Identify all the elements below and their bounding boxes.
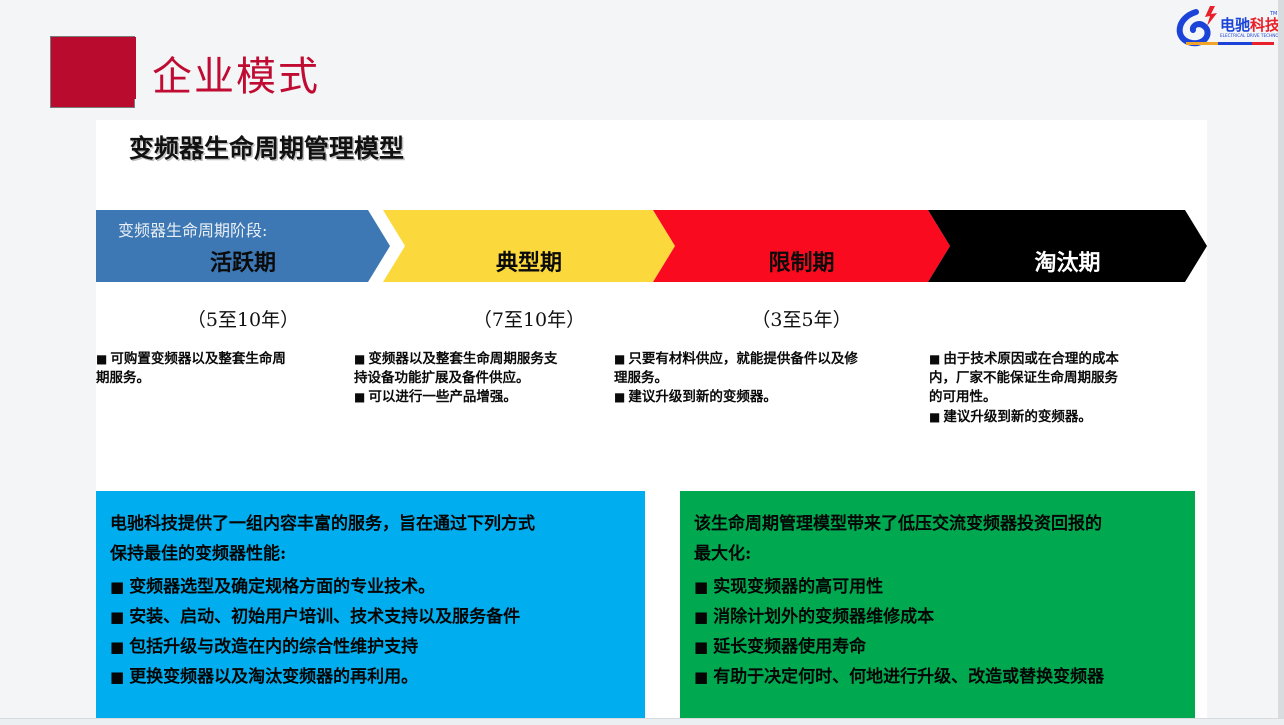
bullet-square-icon: ■ — [694, 608, 708, 626]
phase-detail-columns: ■可购置变频器以及整套生命周期服务。 ■变频器以及整套生命周期服务支持设备功能扩… — [96, 350, 1207, 470]
phase-duration-classic: （7至10年） — [383, 305, 675, 332]
phase-detail-line: 的可用性。 — [929, 388, 1179, 406]
window-right-scrollbar[interactable] — [1278, 0, 1284, 718]
phase-detail-line: 持设备功能扩展及备件供应。 — [354, 369, 604, 387]
services-bullet-list: ■变频器选型及确定规格方面的专业技术。■安装、启动、初始用户培训、技术支持以及服… — [110, 572, 629, 693]
svg-text:ELECTRICAL DRIVE TECHNOLOGY: ELECTRICAL DRIVE TECHNOLOGY — [1220, 33, 1278, 38]
company-logo: 电驰 科技 ELECTRICAL DRIVE TECHNOLOGY TM — [1166, 2, 1278, 50]
phase-column-limited: ■只要有材料供应，就能提供备件以及修理服务。■建议升级到新的变频器。 — [614, 350, 882, 408]
bullet-square-icon: ■ — [929, 410, 940, 424]
phase-detail-line: ■可以进行一些产品增强。 — [354, 388, 604, 406]
box-bullet-item: ■安装、启动、初始用户培训、技术支持以及服务备件 — [110, 602, 629, 632]
benefits-box-green: 该生命周期管理模型带来了低压交流变频器投资回报的 最大化: ■实现变频器的高可用… — [680, 491, 1195, 720]
bullet-square-icon: ■ — [354, 352, 365, 366]
phase-column-classic: ■变频器以及整套生命周期服务支持设备功能扩展及备件供应。■可以进行一些产品增强。 — [354, 350, 604, 408]
phase-column-obsolete: ■由于技术原因或在合理的成本内，厂家不能保证生命周期服务的可用性。■建议升级到新… — [929, 350, 1179, 427]
benefits-bullet-list: ■实现变频器的高可用性■消除计划外的变频器维修成本■延长变频器使用寿命■有助于决… — [694, 572, 1179, 693]
phase-detail-line: 理服务。 — [614, 369, 882, 387]
bullet-square-icon: ■ — [694, 668, 708, 686]
phase-column-active: ■可购置变频器以及整套生命周期服务。 — [96, 350, 344, 388]
card-heading: 变频器生命周期管理模型 — [129, 129, 404, 165]
title-accent-block — [50, 36, 135, 108]
chevron-label: 活跃期 — [210, 245, 276, 282]
chevron-phase-obsolete[interactable]: 淘汰期 — [928, 210, 1207, 282]
title-accent-block-fill — [51, 37, 136, 99]
bullet-square-icon: ■ — [110, 668, 124, 686]
bullet-square-icon: ■ — [694, 638, 708, 656]
bullet-square-icon: ■ — [110, 578, 124, 596]
bullet-square-icon: ■ — [110, 608, 124, 626]
benefits-box-intro: 该生命周期管理模型带来了低压交流变频器投资回报的 最大化: — [694, 509, 1179, 570]
box-bullet-item: ■变频器选型及确定规格方面的专业技术。 — [110, 572, 629, 602]
lifecycle-chevron-strip: 活跃期 典型期 限制期 淘汰期 变频器生命周期阶段: （5至10年） （7至10… — [96, 210, 1207, 282]
bullet-square-icon: ■ — [614, 352, 625, 366]
box-bullet-item: ■实现变频器的高可用性 — [694, 572, 1179, 602]
slide-header: 企业模式 电驰 科技 ELECTRICAL DRIVE TECHNOLOGY T… — [0, 0, 1284, 120]
bullet-square-icon: ■ — [96, 352, 107, 366]
box-bullet-item: ■有助于决定何时、何地进行升级、改造或替换变频器 — [694, 662, 1179, 692]
phase-detail-line: 内，厂家不能保证生命周期服务 — [929, 369, 1179, 387]
bullet-square-icon: ■ — [614, 390, 625, 404]
phase-detail-line: ■变频器以及整套生命周期服务支 — [354, 350, 604, 368]
stage-axis-label: 变频器生命周期阶段: — [118, 217, 267, 241]
services-box-blue: 电驰科技提供了一组内容丰富的服务，旨在通过下列方式 保持最佳的变频器性能: ■变… — [96, 491, 645, 720]
phase-detail-line: ■可购置变频器以及整套生命周 — [96, 350, 344, 368]
phase-duration-limited: （3至5年） — [653, 305, 950, 332]
box-bullet-item: ■包括升级与改造在内的综合性维护支持 — [110, 632, 629, 662]
window-bottom-strip — [0, 718, 1284, 725]
phase-detail-line: ■建议升级到新的变频器。 — [929, 408, 1179, 426]
svg-text:TM: TM — [1269, 11, 1277, 17]
phase-detail-line: 期服务。 — [96, 369, 344, 387]
bullet-square-icon: ■ — [694, 578, 708, 596]
services-intro-line-1: 电驰科技提供了一组内容丰富的服务，旨在通过下列方式 — [110, 514, 535, 534]
chevron-phase-limited[interactable]: 限制期 — [653, 210, 950, 282]
phase-duration-active: （5至10年） — [96, 305, 390, 332]
chevron-phase-classic[interactable]: 典型期 — [383, 210, 675, 282]
benefits-intro-line-2: 最大化: — [694, 544, 751, 564]
benefits-intro-line-1: 该生命周期管理模型带来了低压交流变频器投资回报的 — [694, 514, 1102, 534]
services-intro-line-2: 保持最佳的变频器性能: — [110, 544, 286, 564]
chevron-label: 淘汰期 — [1034, 245, 1100, 282]
summary-boxes: 电驰科技提供了一组内容丰富的服务，旨在通过下列方式 保持最佳的变频器性能: ■变… — [96, 491, 1207, 720]
services-box-intro: 电驰科技提供了一组内容丰富的服务，旨在通过下列方式 保持最佳的变频器性能: — [110, 509, 629, 570]
bullet-square-icon: ■ — [929, 352, 940, 366]
phase-detail-line: ■建议升级到新的变频器。 — [614, 388, 882, 406]
box-bullet-item: ■延长变频器使用寿命 — [694, 632, 1179, 662]
page-title: 企业模式 — [152, 44, 320, 102]
content-card: 变频器生命周期管理模型 活跃期 典型期 限制期 淘汰期 变频器生命周期阶段: （… — [96, 120, 1207, 720]
svg-text:电驰: 电驰 — [1220, 16, 1250, 34]
box-bullet-item: ■消除计划外的变频器维修成本 — [694, 602, 1179, 632]
phase-detail-line: ■由于技术原因或在合理的成本 — [929, 350, 1179, 368]
bullet-square-icon: ■ — [354, 390, 365, 404]
svg-text:科技: 科技 — [1250, 16, 1278, 34]
chevron-label: 典型期 — [496, 245, 562, 282]
phase-detail-line: ■只要有材料供应，就能提供备件以及修 — [614, 350, 882, 368]
chevron-label: 限制期 — [768, 245, 834, 282]
bullet-square-icon: ■ — [110, 638, 124, 656]
box-bullet-item: ■更换变频器以及淘汰变频器的再利用。 — [110, 662, 629, 692]
